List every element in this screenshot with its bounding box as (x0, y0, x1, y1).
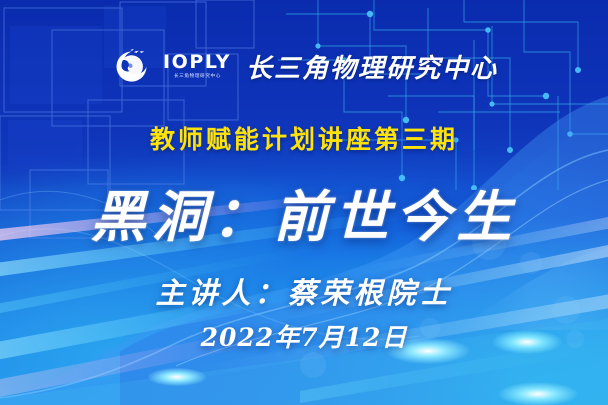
wordmark-cn-small: 长三角物理研究中心 (173, 75, 220, 79)
wordmark: IOPLY 长三角物理研究中心 (163, 53, 231, 79)
organization-name: 长三角物理研究中心 (246, 48, 498, 85)
wordmark-en: IOPLY (163, 53, 231, 72)
series-label: 教师赋能计划讲座第三期 (0, 120, 608, 156)
page-title: 黑洞：前世今生 (0, 172, 608, 252)
phoenix-crescent-emblem-icon (110, 44, 154, 88)
date-line: 2022年7月12日 (0, 318, 608, 354)
poster-content: IOPLY 长三角物理研究中心 长三角物理研究中心 教师赋能计划讲座第三期 黑洞… (0, 0, 608, 405)
speaker-line: 主讲人：蔡荣根院士 (0, 270, 608, 312)
brand-header: IOPLY 长三角物理研究中心 长三角物理研究中心 (0, 44, 608, 88)
lecture-poster: IOPLY 长三角物理研究中心 长三角物理研究中心 教师赋能计划讲座第三期 黑洞… (0, 0, 608, 405)
